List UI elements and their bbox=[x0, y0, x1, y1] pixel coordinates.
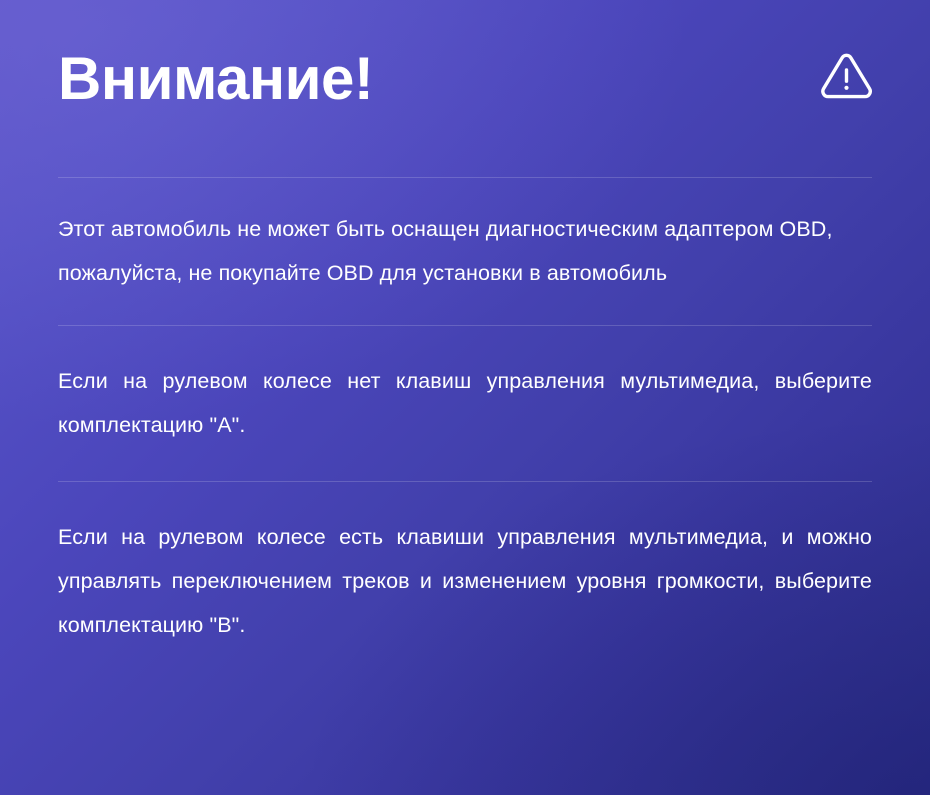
notice-content: Внимание! Этот автомобиль не может быть … bbox=[0, 0, 930, 647]
warning-notice-card: Внимание! Этот автомобиль не может быть … bbox=[0, 0, 930, 795]
notice-block-obd: Этот автомобиль не может быть оснащен ди… bbox=[58, 178, 872, 325]
notice-text-obd: Этот автомобиль не может быть оснащен ди… bbox=[58, 207, 872, 295]
warning-icon-wrapper bbox=[820, 63, 872, 115]
notice-header: Внимание! bbox=[58, 0, 872, 177]
notice-block-config-b: Если на рулевом колесе есть клавиши упра… bbox=[58, 482, 872, 647]
notice-block-config-a: Если на рулевом колесе нет клавиш управл… bbox=[58, 326, 872, 481]
notice-text-config-a: Если на рулевом колесе нет клавиш управл… bbox=[58, 359, 872, 447]
notice-text-config-b: Если на рулевом колесе есть клавиши упра… bbox=[58, 515, 872, 647]
page-title: Внимание! bbox=[58, 49, 373, 109]
warning-exclamation-dot bbox=[844, 85, 848, 89]
warning-triangle-icon bbox=[820, 51, 872, 103]
